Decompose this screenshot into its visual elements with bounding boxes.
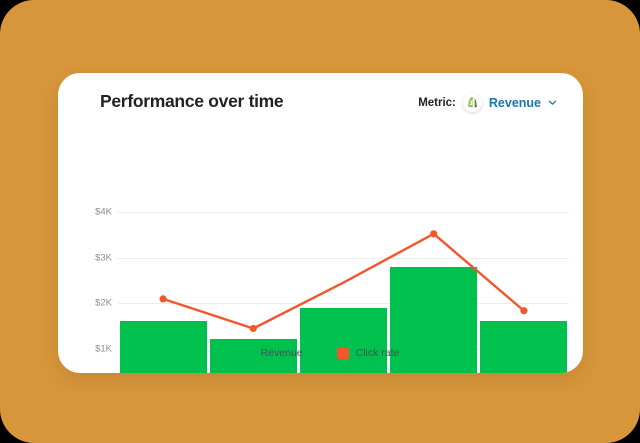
screenshot-stage: Performance over time Metric: Revenue <box>0 0 640 443</box>
data-point[interactable] <box>250 325 257 332</box>
page-title: Performance over time <box>100 91 283 112</box>
card-header: Performance over time Metric: Revenue <box>58 73 583 129</box>
metric-selector[interactable]: Metric: Revenue <box>418 93 557 112</box>
data-point[interactable] <box>160 295 167 302</box>
line-series-click-rate <box>58 129 583 339</box>
legend-label: Revenue <box>261 347 303 359</box>
shopify-bag-icon <box>463 93 482 112</box>
orange-backdrop-panel: Performance over time Metric: Revenue <box>0 0 640 443</box>
chart-plot-area: 0$1K$2K$3K$4K <box>58 129 583 339</box>
line-path <box>163 234 524 329</box>
chevron-down-icon[interactable] <box>548 98 557 107</box>
performance-chart-card: Performance over time Metric: Revenue <box>58 73 583 373</box>
legend-label: Click rate <box>356 347 400 359</box>
data-point[interactable] <box>430 230 437 237</box>
legend-swatch <box>242 347 254 359</box>
metric-label: Metric: <box>418 97 456 109</box>
legend-swatch <box>337 347 349 359</box>
legend-item[interactable]: Revenue <box>242 347 303 359</box>
legend-item[interactable]: Click rate <box>337 347 400 359</box>
chart-legend: RevenueClick rate <box>58 347 583 359</box>
data-point[interactable] <box>520 307 527 314</box>
metric-value[interactable]: Revenue <box>489 96 541 110</box>
